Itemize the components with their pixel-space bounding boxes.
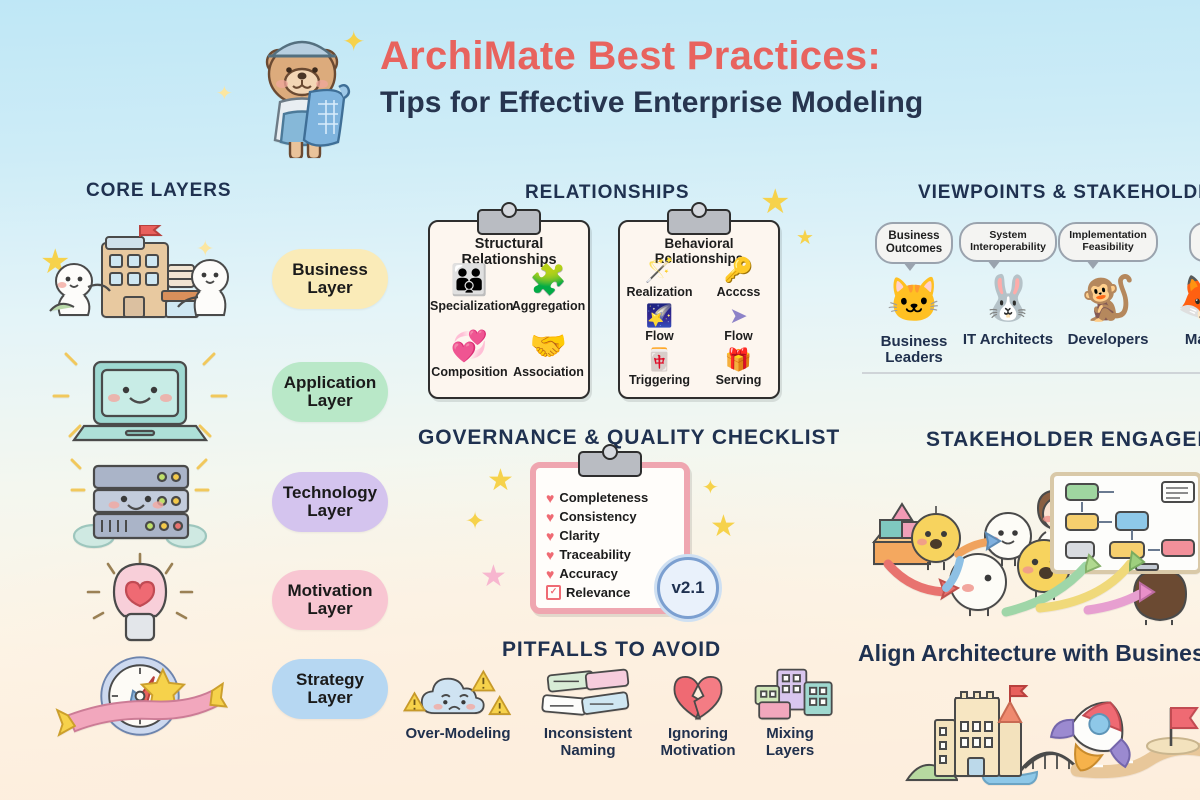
- section-heading-relationships: RELATIONSHIPS: [525, 182, 689, 204]
- scattered-labels-icon: [528, 666, 648, 724]
- people-collaborating-at-whiteboard-icon: [860, 470, 1200, 625]
- layer-label-line1: Motivation: [288, 581, 373, 600]
- layer-label-line1: Strategy: [296, 670, 364, 689]
- relationship-cell[interactable]: 👪 Specialization: [430, 264, 509, 313]
- pitfall-label-line2: Layers: [766, 742, 814, 759]
- checkbox-checked-icon[interactable]: ✓: [546, 585, 561, 600]
- cat-with-briefcase-icon: 🐱: [862, 272, 966, 330]
- heart-icon: ♥: [546, 491, 554, 505]
- monkey-at-keyboard-icon: 🐒: [1056, 270, 1160, 328]
- relationship-label: Association: [509, 365, 588, 379]
- gift-box-icon: 🎁: [699, 348, 778, 372]
- viewpoint-line2: Outcomes: [886, 243, 942, 255]
- relationship-cell[interactable]: 🎁 Serving: [699, 348, 778, 387]
- relationship-cell[interactable]: 🪄 Realization: [620, 258, 699, 299]
- stakeholder-name-line1: Business: [881, 333, 948, 350]
- core-layer-pill-business[interactable]: Business Layer: [272, 249, 388, 309]
- viewpoint-bubble: S A: [1189, 222, 1200, 262]
- viewpoint-bubble: System Interoperability: [959, 222, 1057, 262]
- family-group-icon: 👪: [430, 264, 509, 298]
- pitfall-label-line2: Motivation: [661, 742, 736, 759]
- relationship-cell[interactable]: 🌠 Flow: [620, 304, 699, 343]
- fox-icon: 🦊: [1152, 270, 1200, 328]
- layer-label-line1: Technology: [283, 483, 377, 502]
- core-layer-row-technology: Technology Layer: [30, 450, 390, 560]
- viewpoint-line2: Interoperability: [970, 241, 1046, 253]
- core-layer-pill-strategy[interactable]: Strategy Layer: [272, 659, 388, 719]
- domino-icon: 🀄: [620, 348, 699, 372]
- stakeholder-name: Mana: [1152, 332, 1200, 348]
- lightbulb-with-heart-icon: [40, 548, 240, 658]
- two-hearts-icon: 💞: [430, 330, 509, 364]
- clipboard-clip-icon: [667, 209, 731, 235]
- pitfall-label: Mixing: [766, 725, 814, 742]
- stakeholder-name-line2: Leaders: [885, 349, 943, 366]
- smiling-laptop-icon: [40, 340, 240, 450]
- checklist-item[interactable]: ♥ Consistency: [546, 509, 637, 524]
- layer-label-line2: Layer: [307, 278, 352, 297]
- heart-icon: ♥: [546, 510, 554, 524]
- core-layer-row-motivation: Motivation Layer: [30, 548, 390, 658]
- section-heading-core-layers: CORE LAYERS: [86, 180, 231, 202]
- layer-label-line2: Layer: [307, 501, 352, 520]
- puzzle-pieces-icon: 🧩: [509, 264, 588, 298]
- align-scene: [905, 680, 1200, 790]
- relationship-label: Composition: [430, 365, 509, 379]
- smiling-server-rack-icon: [40, 450, 240, 560]
- rabbit-with-goggles-icon: 🐰: [956, 270, 1060, 328]
- layer-label-line2: Layer: [307, 599, 352, 618]
- compass-with-ribbon-icon: [40, 645, 240, 755]
- sparkle-icon: ✦: [702, 478, 719, 498]
- checklist-item[interactable]: ♥ Completeness: [546, 490, 648, 505]
- core-layer-row-business: Business Layer: [30, 225, 390, 335]
- checklist-label: Accuracy: [559, 566, 618, 581]
- checklist-item[interactable]: ♥ Clarity: [546, 528, 600, 543]
- relationship-label: Flow: [699, 329, 778, 343]
- relationship-label: Specialization: [430, 299, 509, 313]
- core-layer-row-strategy: Strategy Layer: [30, 645, 390, 755]
- checklist-item[interactable]: ✓ Relevance: [546, 585, 630, 600]
- relationship-label: Aggregation: [509, 299, 588, 313]
- pitfall-label: Ignoring: [668, 725, 728, 742]
- infographic-poster: ✦ ✦ ArchiMate Best Practices: Tips for E…: [0, 0, 1200, 800]
- sparkle-icon: ✦: [342, 28, 365, 56]
- page-title: ArchiMate Best Practices:: [380, 34, 960, 79]
- stakeholder-name: IT Architects: [956, 332, 1060, 348]
- pitfall-item[interactable]: Over-Modeling: [398, 666, 518, 743]
- viewpoint-bubble: Business Outcomes: [875, 222, 953, 264]
- viewpoint-bubble: Implementation Feasibility: [1058, 222, 1158, 262]
- pitfall-item[interactable]: Mixing Layers: [730, 666, 850, 759]
- relationship-cell[interactable]: 🤝 Association: [509, 330, 588, 379]
- office-building-with-people-icon: [40, 225, 240, 335]
- relationship-cell[interactable]: ➤ Flow: [699, 304, 778, 343]
- purple-arrow-icon: ➤: [699, 304, 778, 328]
- relationship-label: Triggering: [620, 373, 699, 387]
- version-badge: v2.1: [657, 557, 719, 619]
- relationship-label: Realization: [620, 285, 699, 299]
- relationship-cell[interactable]: 💞 Composition: [430, 330, 509, 379]
- section-heading-governance: GOVERNANCE & QUALITY CHECKLIST: [418, 426, 840, 450]
- pitfall-label: Over-Modeling: [398, 726, 518, 743]
- section-heading-viewpoints: VIEWPOINTS & STAKEHOLDERS: [918, 182, 1200, 204]
- viewpoint-line1: System: [989, 229, 1026, 241]
- castle-bridge-and-rocket-journey-icon: [905, 680, 1200, 795]
- star-icon: ★: [487, 466, 514, 496]
- viewpoint-line1: Business: [888, 230, 939, 242]
- stakeholder-floor-line: [862, 372, 1200, 374]
- core-layer-pill-application[interactable]: Application Layer: [272, 362, 388, 422]
- stacked-buildings-icon: [730, 666, 850, 724]
- relationship-label: Serving: [699, 373, 778, 387]
- checklist-label: Completeness: [559, 490, 648, 505]
- relationship-label: Acccss: [699, 285, 778, 299]
- align-heading: Align Architecture with Business G: [858, 640, 1200, 667]
- layer-label-line1: Application: [284, 373, 377, 392]
- section-heading-engagement: STAKEHOLDER ENGAGEMENT: [926, 428, 1200, 452]
- layer-label-line2: Layer: [307, 688, 352, 707]
- core-layer-row-application: Application Layer: [30, 340, 390, 450]
- clipboard-clip-icon: [578, 451, 642, 477]
- heart-icon: ♥: [546, 567, 554, 581]
- stakeholder-business-leaders[interactable]: Business Outcomes 🐱 Business Leaders: [862, 222, 966, 366]
- clipboard-behavioral-relationships: Behavioral Relationships 🪄 Realization 🔑…: [618, 220, 780, 399]
- layer-label-line2: Layer: [307, 391, 352, 410]
- key-icon: 🔑: [699, 258, 778, 284]
- header: ✦ ✦ ArchiMate Best Practices: Tips for E…: [0, 0, 1200, 165]
- pitfall-label-line2: Naming: [560, 742, 615, 759]
- pitfall-item[interactable]: Inconsistent Naming: [528, 666, 648, 759]
- core-layer-pill-motivation[interactable]: Motivation Layer: [272, 570, 388, 630]
- sparkle-icon: ✦: [465, 510, 485, 534]
- relationship-cell[interactable]: 🔑 Acccss: [699, 258, 778, 299]
- core-layer-pill-technology[interactable]: Technology Layer: [272, 472, 388, 532]
- checklist-item[interactable]: ♥ Accuracy: [546, 566, 618, 581]
- star-icon: ★: [760, 185, 790, 219]
- viewpoint-line2: Feasibility: [1082, 241, 1133, 253]
- page-subtitle: Tips for Effective Enterprise Modeling: [380, 86, 980, 120]
- stakeholder-name: Developers: [1056, 332, 1160, 348]
- clipboard-structural-relationships: Structural Relationships 👪 Specializatio…: [428, 220, 590, 399]
- checklist-label: Traceability: [559, 547, 631, 562]
- checklist-item[interactable]: ♥ Traceability: [546, 547, 631, 562]
- sparkle-icon: ✦: [216, 84, 233, 104]
- stakeholder-it-architects[interactable]: System Interoperability 🐰 IT Architects: [956, 222, 1060, 348]
- star-icon: ★: [710, 512, 737, 542]
- stakeholder-developers[interactable]: Implementation Feasibility 🐒 Developers: [1056, 222, 1160, 348]
- handshake-icon: 🤝: [509, 330, 588, 364]
- pitfall-label: Inconsistent: [544, 725, 632, 742]
- viewpoint-line1: Implementation: [1069, 229, 1147, 241]
- layer-label-line1: Business: [292, 260, 368, 279]
- relationship-label: Flow: [620, 329, 699, 343]
- checklist-label: Relevance: [566, 585, 630, 600]
- relationship-cell[interactable]: 🀄 Triggering: [620, 348, 699, 387]
- heart-icon: ♥: [546, 529, 554, 543]
- engagement-scene: [860, 470, 1200, 620]
- stakeholder-managers-clipped[interactable]: S A 🦊 Mana: [1152, 222, 1200, 348]
- clipboard-clip-icon: [477, 209, 541, 235]
- star-icon: ★: [796, 228, 814, 248]
- checklist-label: Clarity: [559, 528, 599, 543]
- relationship-cell[interactable]: 🧩 Aggregation: [509, 264, 588, 313]
- star-icon: ★: [480, 562, 507, 592]
- magic-wand-icon: 🪄: [620, 258, 699, 284]
- sad-cloud-with-warnings-icon: [398, 666, 518, 724]
- shooting-star-icon: 🌠: [620, 304, 699, 328]
- section-heading-pitfalls: PITFALLS TO AVOID: [502, 638, 721, 662]
- checklist-label: Consistency: [559, 509, 636, 524]
- heart-icon: ♥: [546, 548, 554, 562]
